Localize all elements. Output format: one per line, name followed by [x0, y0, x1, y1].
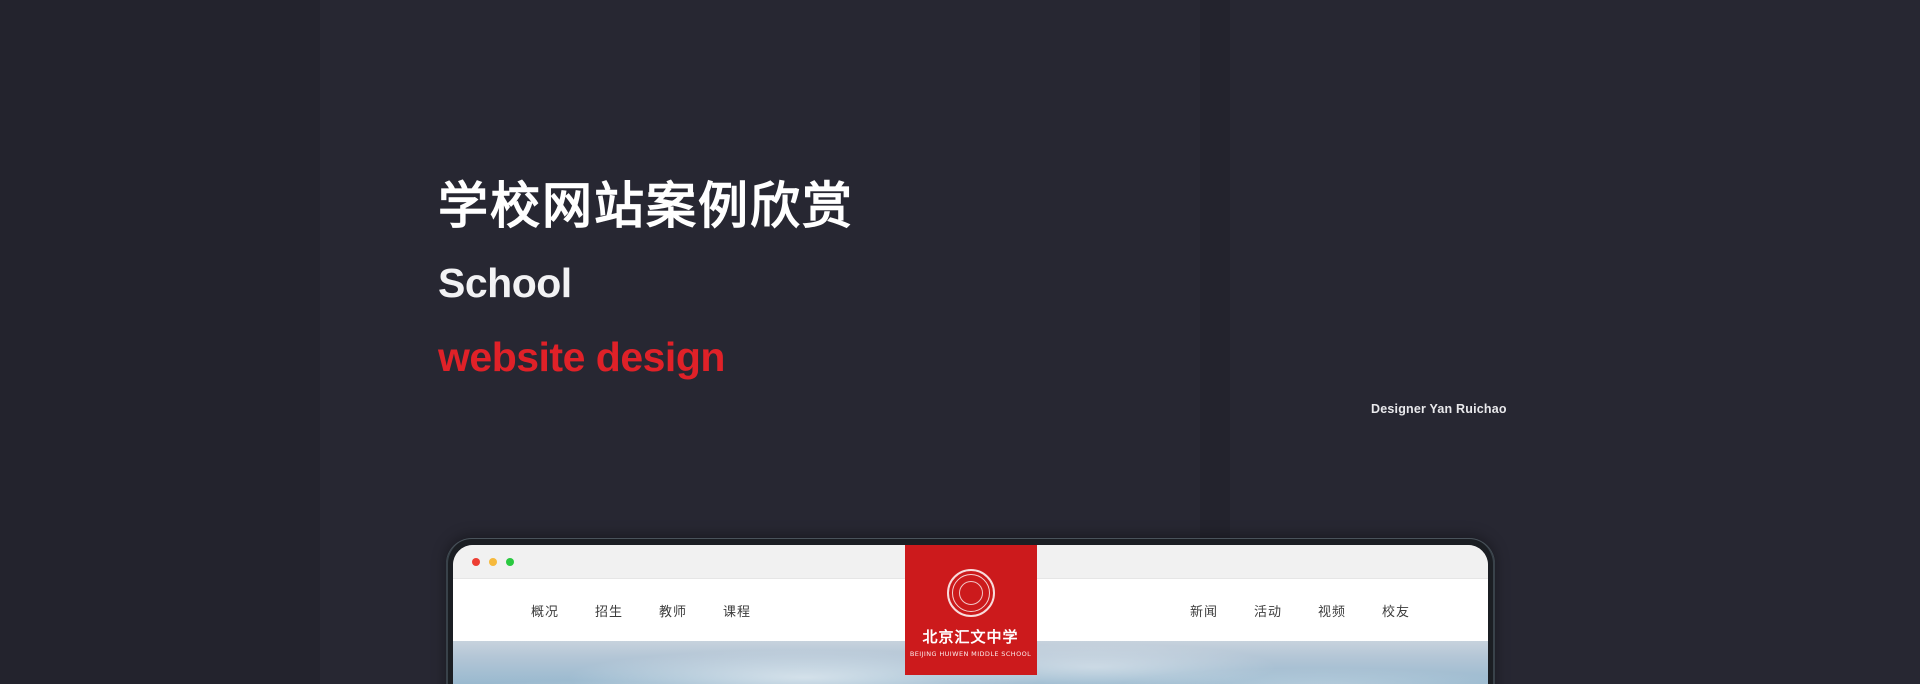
headline-block: 学校网站案例欣赏 School website design [438, 178, 854, 382]
page-title-chinese: 学校网站案例欣赏 [438, 178, 854, 234]
nav-item-courses[interactable]: 课程 [723, 601, 751, 620]
nav-item-news[interactable]: 新闻 [1190, 601, 1218, 620]
nav-item-events[interactable]: 活动 [1254, 601, 1282, 620]
designer-credit: Designer Yan Ruichao [1371, 402, 1507, 416]
nav-item-alumni[interactable]: 校友 [1382, 601, 1410, 620]
background-band-left [0, 0, 320, 684]
page-title-english-line2: website design [438, 332, 854, 382]
slide-canvas: 学校网站案例欣赏 School website design Designer … [0, 0, 1920, 684]
minimize-icon[interactable] [489, 558, 497, 566]
nav-item-admissions[interactable]: 招生 [595, 601, 623, 620]
maximize-icon[interactable] [506, 558, 514, 566]
nav-item-video[interactable]: 视频 [1318, 601, 1346, 620]
school-name-english: BEIJING HUIWEN MIDDLE SCHOOL [910, 650, 1031, 658]
school-name: 北京汇文中学 [922, 626, 1018, 647]
nav-group-left: 概况 招生 教师 课程 [531, 601, 751, 620]
page-title-english-line1: School [438, 258, 854, 308]
nav-item-teachers[interactable]: 教师 [659, 601, 687, 620]
nav-group-right: 新闻 活动 视频 校友 [1190, 601, 1410, 620]
laptop-frame: 概况 招生 教师 课程 新闻 活动 视频 校友 北京汇文中学 BEIJING H… [446, 538, 1495, 684]
nav-item-overview[interactable]: 概况 [531, 601, 559, 620]
browser-window: 概况 招生 教师 课程 新闻 活动 视频 校友 北京汇文中学 BEIJING H… [453, 545, 1488, 684]
close-icon[interactable] [472, 558, 480, 566]
circular-seal-icon [947, 569, 995, 617]
school-logo-banner[interactable]: 北京汇文中学 BEIJING HUIWEN MIDDLE SCHOOL [905, 545, 1037, 675]
